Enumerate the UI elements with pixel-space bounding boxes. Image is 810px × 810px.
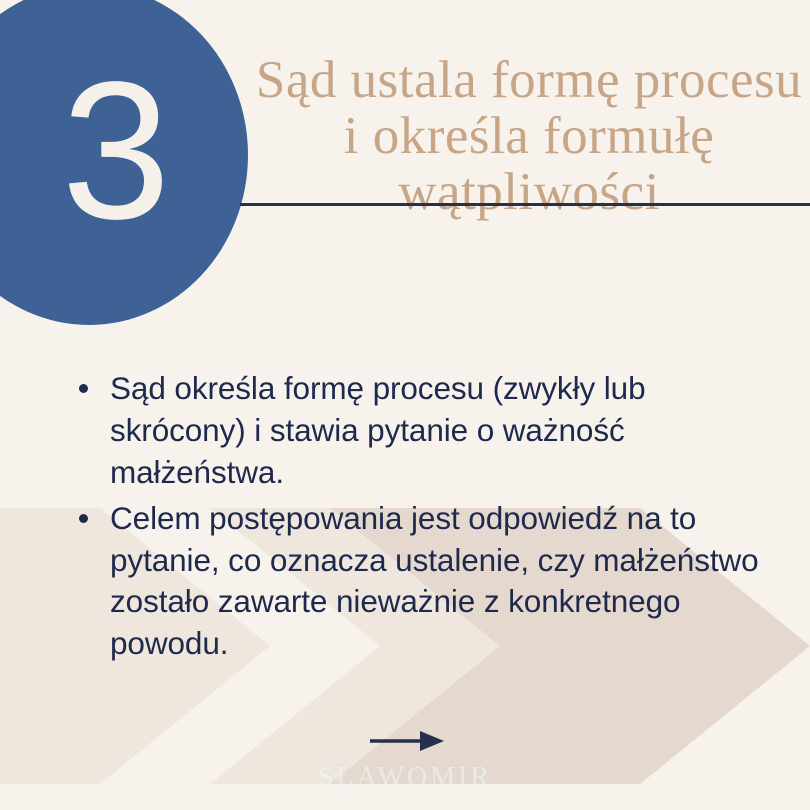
bullet-dot-icon (79, 514, 88, 523)
arrow-right-glyph (368, 728, 446, 754)
bullet-dot-icon (79, 384, 88, 393)
step-number-badge: 3 (0, 0, 248, 325)
watermark: SŁAWOMIR (0, 762, 810, 794)
list-item-text: Sąd określa formę procesu (zwykły lub sk… (110, 370, 646, 490)
list-item: Celem postępowania jest odpowiedź na to … (68, 498, 780, 666)
bullet-list: Sąd określa formę procesu (zwykły lub sk… (68, 368, 780, 669)
list-item-text: Celem postępowania jest odpowiedź na to … (110, 500, 759, 662)
slide-canvas: 3 Sąd ustala formę procesu i określa for… (0, 0, 810, 810)
arrow-right-icon[interactable] (368, 728, 446, 754)
list-item: Sąd określa formę procesu (zwykły lub sk… (68, 368, 780, 494)
page-title: Sąd ustala formę procesu i określa formu… (248, 52, 810, 221)
title-divider (240, 203, 810, 206)
step-number: 3 (61, 53, 168, 249)
